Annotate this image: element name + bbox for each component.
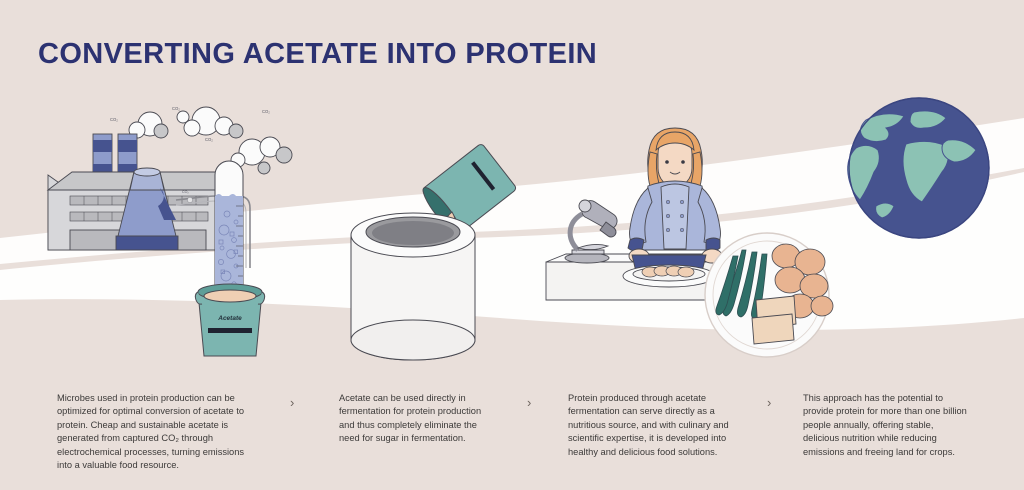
caption-line: generated from captured CO₂ through <box>57 432 260 445</box>
cooling-tower-base <box>116 236 178 250</box>
caption-line: into a valuable food resource. <box>57 459 260 472</box>
culinary-illustration <box>546 128 833 357</box>
smoke-puff-shadow <box>154 124 168 138</box>
caption-line: Protein produced through acetate <box>568 392 746 405</box>
tank-bottom <box>351 320 475 360</box>
caption-culinary: Protein produced through acetate ferment… <box>568 392 746 459</box>
caption-line: Acetate can be used directly in <box>339 392 519 405</box>
caption-line: healthy and delicious food solutions. <box>568 446 746 459</box>
caption-line: people annually, offering stable, <box>803 419 983 432</box>
food-plate <box>705 233 833 357</box>
factory-illustration: CO₂ CO₂ CO₂ CO₂ <box>48 106 292 356</box>
separator-chevron-1: › <box>290 395 294 410</box>
caption-line: optimized for optimal conversion of acet… <box>57 405 260 418</box>
chef-plate <box>623 255 715 287</box>
fermentation-illustration <box>351 143 517 360</box>
smoke-puff <box>184 120 200 136</box>
bucket-contents <box>204 290 256 302</box>
microscope-base <box>565 253 609 263</box>
caption-line: protein. Cheap and sustainable acetate i… <box>57 419 260 432</box>
smoke-puff-shadow <box>258 162 270 174</box>
tank-opening-inner <box>372 221 454 245</box>
co2-label: CO₂ <box>110 117 118 122</box>
caption-line: delicious nutrition while reducing <box>803 432 983 445</box>
bread-slice <box>752 314 794 344</box>
caption-line: This approach has the potential to <box>803 392 983 405</box>
caption-capture: Microbes used in protein production can … <box>57 392 260 472</box>
separator-chevron-3: › <box>767 395 771 410</box>
smoke-puff-shadow <box>276 147 292 163</box>
globe-illustration <box>848 98 989 238</box>
caption-line: emissions and freeing land for crops. <box>803 446 983 459</box>
co2-label: CO₂ <box>172 106 180 111</box>
chef-character <box>628 128 722 263</box>
co2-label: CO₂ <box>205 137 213 142</box>
chef-jacket-placket <box>661 184 689 249</box>
caption-row: Microbes used in protein production can … <box>0 392 1024 490</box>
caption-line: fermentation can serve directly as a <box>568 405 746 418</box>
acetate-bucket: Acetate <box>195 284 264 356</box>
bread-group <box>752 296 796 344</box>
bucket-label-text: Acetate <box>217 315 242 322</box>
caption-line: provide protein for more than one billio… <box>803 405 983 418</box>
caption-line: and thus completely eliminate the <box>339 419 519 432</box>
caption-line: fermentation for protein production <box>339 405 519 418</box>
chef-eye-right <box>681 160 685 164</box>
infographic-canvas: CO₂ CO₂ CO₂ CO₂ <box>0 0 1024 490</box>
separator-chevron-2: › <box>527 395 531 410</box>
caption-line: need for sugar in fermentation. <box>339 432 519 445</box>
smoke-puff-shadow <box>229 124 243 138</box>
microscope-arm <box>570 214 582 250</box>
co2-label: CO₂ <box>262 109 270 114</box>
fermentation-tank <box>351 213 475 360</box>
caption-line: Microbes used in protein production can … <box>57 392 260 405</box>
caption-fermentation: Acetate can be used directly in fermenta… <box>339 392 519 446</box>
chef-eye-left <box>665 160 669 164</box>
pipe-valve <box>187 197 192 202</box>
pipe-co2-label: CO₂ <box>182 190 189 194</box>
caption-line: electrochemical processes, turning emiss… <box>57 446 260 459</box>
microscope-eyepiece <box>579 200 591 212</box>
microscope-stage <box>578 244 608 249</box>
bucket-label-bar <box>208 328 252 333</box>
caption-global-impact: This approach has the potential to provi… <box>803 392 983 459</box>
cooling-tower-rim <box>134 168 160 176</box>
caption-line: nutritious source, and with culinary and <box>568 419 746 432</box>
mushroom <box>811 296 833 316</box>
page-title: CONVERTING ACETATE INTO PROTEIN <box>38 38 597 71</box>
caption-line: scientific expertise, it is developed in… <box>568 432 746 445</box>
